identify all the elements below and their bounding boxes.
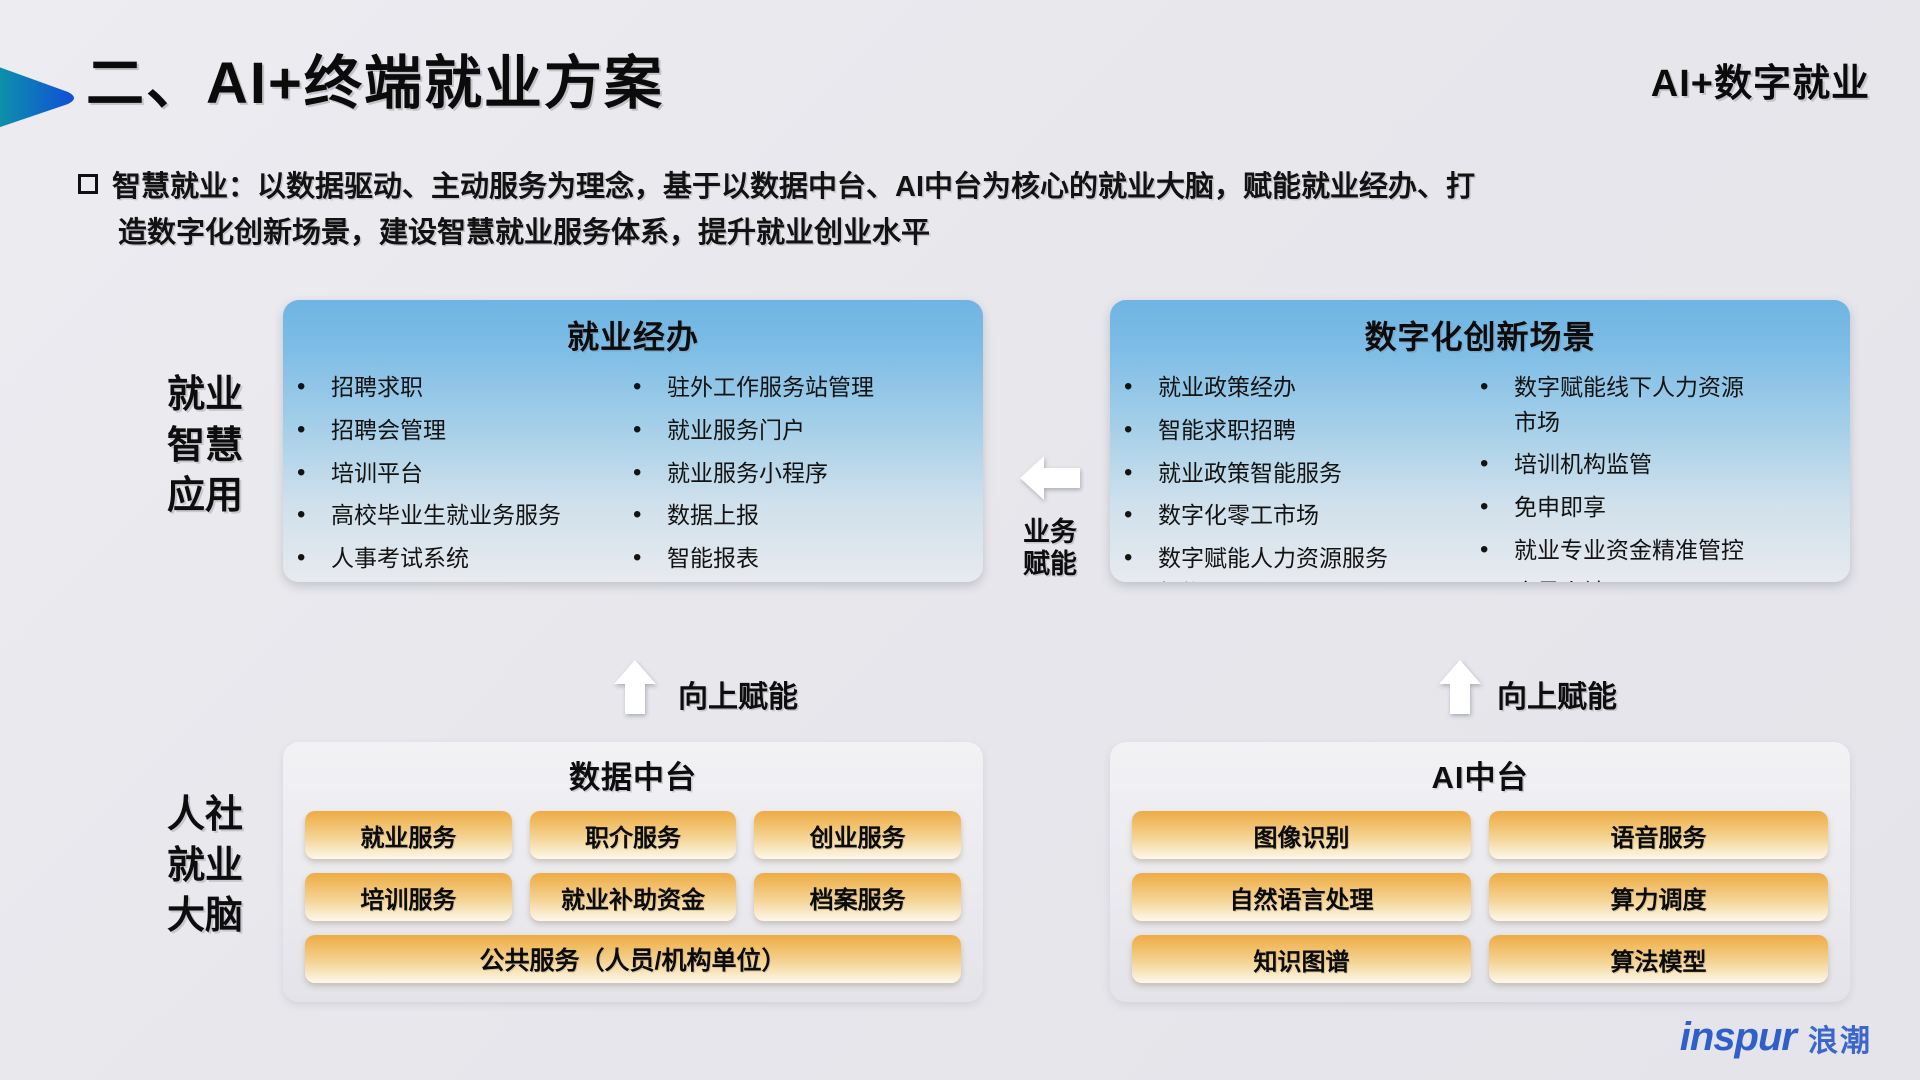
bullet-dot-icon: • [1124, 413, 1158, 448]
deck-title: AI+数字就业 [1651, 52, 1870, 107]
business-enable-line: 赋能 [1010, 548, 1090, 580]
card-title: 数字化创新场景 [1110, 300, 1850, 358]
list-item[interactable]: •智能求职招聘 [1124, 413, 1480, 448]
list-item-label: 就业政策智能服务 [1158, 456, 1388, 491]
list-item[interactable]: •人事考试系统 [297, 541, 633, 576]
list-item-label: 数据上报 [667, 498, 897, 533]
card-column-right: •驻外工作服务站管理 •就业服务门户 •就业服务小程序 •数据上报 •智能报表 … [633, 370, 969, 582]
chip-item[interactable]: 档案服务 [754, 873, 961, 921]
card-employment-handling[interactable]: 就业经办 •招聘求职 •招聘会管理 •培训平台 •高校毕业生就业务服务 •人事考… [283, 300, 983, 582]
bullet-dot-icon: • [1480, 533, 1514, 568]
square-bullet-icon [78, 174, 98, 194]
list-item[interactable]: •免申即享 [1480, 490, 1836, 525]
list-item-label: 免申即享 [1514, 490, 1744, 525]
list-item-label: 就业专业资金精准管控 [1514, 533, 1744, 568]
list-item-label: 招聘求职 [331, 370, 561, 405]
chip-grid: 图像识别 语音服务 自然语言处理 算力调度 知识图谱 算法模型 [1110, 797, 1850, 983]
list-item[interactable]: •数据上报 [633, 498, 969, 533]
list-item[interactable]: •就业服务小程序 [633, 456, 969, 491]
card-title: 就业经办 [283, 300, 983, 358]
bullet-dot-icon: • [1480, 447, 1514, 482]
bullet-dot-icon: • [633, 456, 667, 491]
chip-item[interactable]: 图像识别 [1132, 811, 1471, 859]
upward-enable-label-right: 向上赋能 [1497, 672, 1617, 716]
chip-item[interactable]: 知识图谱 [1132, 935, 1471, 983]
bullet-dot-icon: • [633, 370, 667, 405]
list-item-label: 智能求职招聘 [1158, 413, 1388, 448]
list-item-label: 人事考试系统 [331, 541, 561, 576]
lead-paragraph: 智慧就业：以数据驱动、主动服务为理念，基于以数据中台、AI中台为核心的就业大脑，… [78, 165, 1868, 257]
business-enable-line: 业务 [1010, 516, 1090, 548]
bullet-dot-icon: • [297, 370, 331, 405]
card-digital-innovation-scenarios[interactable]: 数字化创新场景 •就业政策经办 •智能求职招聘 •就业政策智能服务 •数字化零工… [1110, 300, 1850, 582]
bullet-dot-icon: • [1124, 541, 1158, 576]
chip-item[interactable]: 就业服务 [305, 811, 512, 859]
list-item-label: 数字赋能人力资源服务机构 [1158, 541, 1388, 582]
bullet-dot-icon: • [1124, 456, 1158, 491]
business-enable-label: 业务 赋能 [1010, 516, 1090, 581]
arrow-left-icon [1018, 452, 1082, 504]
list-item[interactable]: •就业政策智能服务 [1124, 456, 1480, 491]
list-item-label: 驻外工作服务站管理 [667, 370, 897, 405]
list-item-label: 数字化零工市场 [1158, 498, 1388, 533]
list-item[interactable]: •培训平台 [297, 456, 633, 491]
chip-item[interactable]: 算力调度 [1489, 873, 1828, 921]
list-item-label: 招聘会管理 [331, 413, 561, 448]
list-item[interactable]: •招聘求职 [297, 370, 633, 405]
list-item-label: 就业服务门户 [667, 413, 897, 448]
panel-title: AI中台 [1110, 742, 1850, 797]
chip-item[interactable]: 培训服务 [305, 873, 512, 921]
card-column-left: •招聘求职 •招聘会管理 •培训平台 •高校毕业生就业务服务 •人事考试系统 •… [297, 370, 633, 582]
list-item[interactable]: •全景人社 [1480, 575, 1836, 582]
row-label-line: 大脑 [120, 891, 290, 942]
bullet-dot-icon: • [1124, 370, 1158, 405]
page-title: 二、AI+终端就业方案 [86, 36, 664, 120]
slide-canvas: 二、AI+终端就业方案 AI+数字就业 智慧就业：以数据驱动、主动服务为理念，基… [0, 0, 1920, 1080]
list-item[interactable]: •就业政策经办 [1124, 370, 1480, 405]
panel-ai-midend: AI中台 图像识别 语音服务 自然语言处理 算力调度 知识图谱 算法模型 [1110, 742, 1850, 1002]
list-item[interactable]: •数字赋能线下人力资源市场 [1480, 370, 1836, 439]
list-item-label: 培训平台 [331, 456, 561, 491]
corner-accent-arrow-icon [0, 36, 90, 154]
chip-item[interactable]: 语音服务 [1489, 811, 1828, 859]
bullet-dot-icon: • [1480, 575, 1514, 582]
bullet-dot-icon: • [633, 498, 667, 533]
arrow-up-icon [612, 658, 658, 716]
list-item-label: 智能报表 [667, 541, 897, 576]
list-item-label: 就业服务小程序 [667, 456, 897, 491]
row-label-smart-apps: 就业 智慧 应用 [120, 370, 290, 522]
card-column-right: •数字赋能线下人力资源市场 •培训机构监管 •免申即享 •就业专业资金精准管控 … [1480, 370, 1836, 582]
chip-item[interactable]: 自然语言处理 [1132, 873, 1471, 921]
row-label-line: 就业 [120, 370, 290, 421]
list-item-label: 培训机构监管 [1514, 447, 1744, 482]
bullet-dot-icon: • [297, 498, 331, 533]
list-item-label: 高校毕业生就业务服务 [331, 498, 561, 533]
chip-item[interactable]: 算法模型 [1489, 935, 1828, 983]
upward-enable-label-left: 向上赋能 [678, 672, 798, 716]
list-item[interactable]: •就业专业资金精准管控 [1480, 533, 1836, 568]
brand-logo: inspur 浪潮 [1680, 1015, 1872, 1060]
bullet-dot-icon: • [633, 541, 667, 576]
arrow-up-icon [1437, 658, 1483, 716]
panel-data-midend: 数据中台 就业服务 职介服务 创业服务 培训服务 就业补助资金 档案服务 公共服… [283, 742, 983, 1002]
row-label-line: 就业 [120, 841, 290, 892]
list-item[interactable]: •培训机构监管 [1480, 447, 1836, 482]
list-item[interactable]: •智能报表 [633, 541, 969, 576]
chip-item[interactable]: 创业服务 [754, 811, 961, 859]
bullet-dot-icon: • [1480, 370, 1514, 405]
bullet-dot-icon: • [1124, 498, 1158, 533]
chip-item[interactable]: 就业补助资金 [530, 873, 737, 921]
row-label-hr-brain: 人社 就业 大脑 [120, 790, 290, 942]
list-item-label: 数字赋能线下人力资源市场 [1514, 370, 1744, 439]
bullet-dot-icon: • [1480, 490, 1514, 525]
bullet-dot-icon: • [297, 541, 331, 576]
list-item[interactable]: •就业服务门户 [633, 413, 969, 448]
list-item[interactable]: •数字化零工市场 [1124, 498, 1480, 533]
list-item[interactable]: •数字赋能人力资源服务机构 [1124, 541, 1480, 582]
lead-line-1: 智慧就业：以数据驱动、主动服务为理念，基于以数据中台、AI中台为核心的就业大脑，… [112, 171, 1475, 203]
list-item[interactable]: •招聘会管理 [297, 413, 633, 448]
list-item[interactable]: •驻外工作服务站管理 [633, 370, 969, 405]
chip-item[interactable]: 职介服务 [530, 811, 737, 859]
row-label-line: 应用 [120, 471, 290, 522]
list-item-label: 就业政策经办 [1158, 370, 1388, 405]
panel-title: 数据中台 [283, 742, 983, 797]
bullet-dot-icon: • [633, 413, 667, 448]
chip-item[interactable]: 公共服务（人员/机构单位） [305, 935, 961, 983]
list-item[interactable]: •高校毕业生就业务服务 [297, 498, 633, 533]
brand-logo-wordmark: inspur [1680, 1015, 1796, 1060]
row-label-line: 人社 [120, 790, 290, 841]
bullet-dot-icon: • [297, 456, 331, 491]
card-column-left: •就业政策经办 •智能求职招聘 •就业政策智能服务 •数字化零工市场 •数字赋能… [1124, 370, 1480, 582]
chip-grid: 就业服务 职介服务 创业服务 培训服务 就业补助资金 档案服务 公共服务（人员/… [283, 797, 983, 983]
row-label-line: 智慧 [120, 421, 290, 472]
list-item-label: 全景人社 [1514, 575, 1744, 582]
brand-logo-cn: 浪潮 [1808, 1016, 1872, 1060]
bullet-dot-icon: • [297, 413, 331, 448]
lead-line-2: 造数字化创新场景，建设智慧就业服务体系，提升就业创业水平 [118, 211, 1868, 257]
